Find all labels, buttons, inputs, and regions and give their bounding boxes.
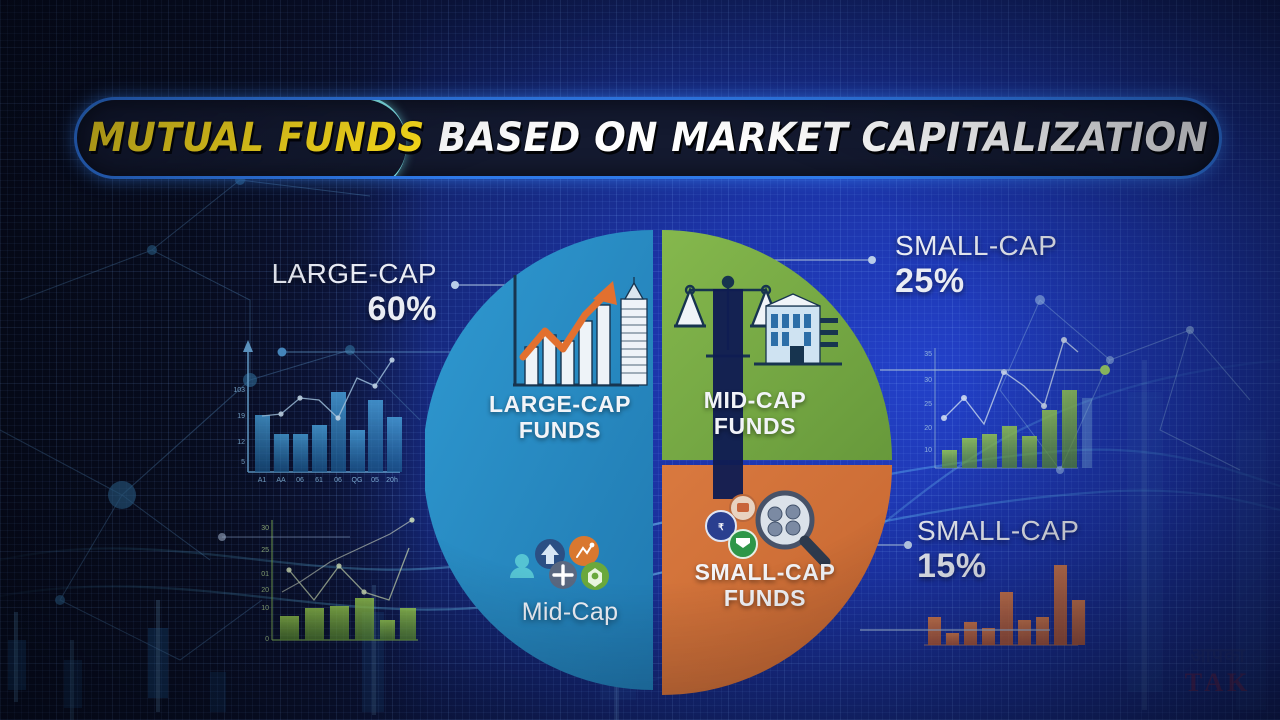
green-badge-icon xyxy=(581,562,609,590)
overlay-dark-bar xyxy=(713,289,743,499)
watermark-logo: आपका TAK xyxy=(1168,644,1268,704)
svg-text:20h: 20h xyxy=(386,477,398,484)
background-chart-right-green: 353025 2010 xyxy=(924,337,1092,468)
svg-text:61: 61 xyxy=(315,477,323,484)
svg-text:AA: AA xyxy=(276,477,286,484)
svg-text:10: 10 xyxy=(924,447,932,454)
svg-text:₹: ₹ xyxy=(718,522,724,532)
title-banner: MUTUAL FUNDS BASED ON MARKET CAPITALIZAT… xyxy=(74,97,1222,179)
watermark-line2: TAK xyxy=(1168,668,1268,698)
mid-cap-legend-label: Mid-Cap xyxy=(500,598,640,627)
svg-text:20: 20 xyxy=(924,425,932,432)
callout-mid-cap-value: 25% xyxy=(895,262,1057,301)
svg-text:30: 30 xyxy=(261,525,269,532)
svg-text:0: 0 xyxy=(265,636,269,643)
title-rest: BASED ON MARKET CAPITALIZATION xyxy=(425,115,1208,161)
person-icon xyxy=(510,554,534,578)
svg-text:01: 01 xyxy=(261,571,269,578)
svg-text:25: 25 xyxy=(261,547,269,554)
callout-large-cap-value: 60% xyxy=(262,290,437,329)
callout-mid-cap-name: SMALL-CAP xyxy=(895,230,1057,262)
svg-text:06: 06 xyxy=(296,477,304,484)
svg-text:05: 05 xyxy=(371,477,379,484)
svg-text:20: 20 xyxy=(261,587,269,594)
callout-large-cap: LARGE-CAP 60% xyxy=(262,258,437,329)
title-highlight: MUTUAL FUNDS xyxy=(88,115,425,161)
svg-text:QG: QG xyxy=(352,477,363,484)
callout-small-cap-name: SMALL-CAP xyxy=(917,515,1079,547)
callout-small-cap-value: 15% xyxy=(917,547,1079,586)
background-network-nodes-right xyxy=(1035,295,1194,474)
title-text: MUTUAL FUNDS BASED ON MARKET CAPITALIZAT… xyxy=(88,115,1208,161)
svg-text:25: 25 xyxy=(924,401,932,408)
pie-chart-svg: ₹ xyxy=(425,220,895,700)
svg-text:10: 10 xyxy=(261,605,269,612)
svg-text:103: 103 xyxy=(233,387,245,394)
svg-text:A1: A1 xyxy=(258,477,267,484)
orange-badge-icon xyxy=(569,536,599,566)
callout-mid-cap: SMALL-CAP 25% xyxy=(895,230,1057,301)
svg-text:5: 5 xyxy=(241,459,245,466)
svg-text:12: 12 xyxy=(237,439,245,446)
pie-chart: ₹ LARGE-CAP FUNDS MID-CAP FUNDS SMALL-CA… xyxy=(425,220,895,700)
callout-small-cap: SMALL-CAP 15% xyxy=(917,515,1079,586)
svg-text:19: 19 xyxy=(237,413,245,420)
background-network-nodes-left xyxy=(55,175,355,605)
mid-cap-icon-cluster xyxy=(505,530,625,592)
background-chart-left-green: 302501 20100 xyxy=(261,517,418,643)
callout-large-cap-name: LARGE-CAP xyxy=(262,258,437,290)
background-network-right xyxy=(1000,300,1250,470)
svg-text:30: 30 xyxy=(924,377,932,384)
watermark-line1: आपका xyxy=(1168,644,1268,668)
infographic-stage: 103 19 12 5 A1AA06 6106QG 0520h xyxy=(0,0,1280,720)
svg-text:35: 35 xyxy=(924,351,932,358)
plus-badge-icon xyxy=(549,561,577,589)
svg-text:06: 06 xyxy=(334,477,342,484)
